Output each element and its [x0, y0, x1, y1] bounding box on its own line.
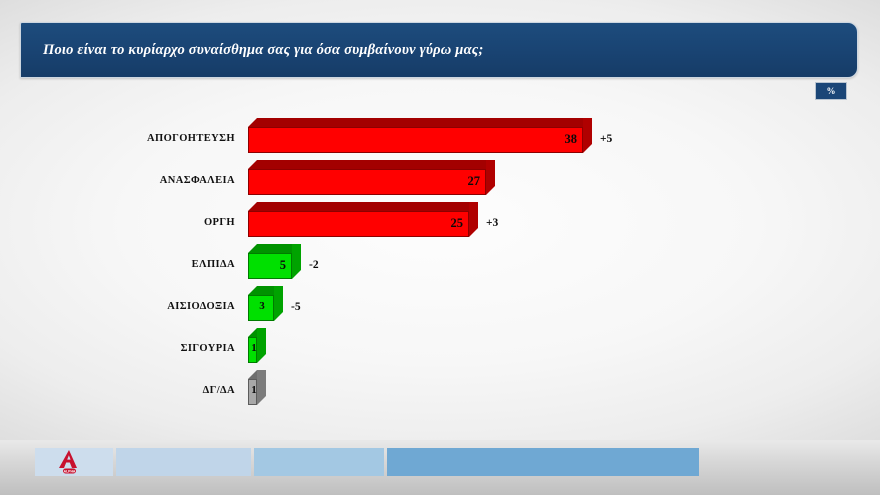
category-label: ΑΝΑΣΦΑΛΕΙΑ — [0, 175, 235, 186]
bar-side-face — [257, 328, 266, 363]
category-label: ΣΙΓΟΥΡΙΑ — [0, 343, 235, 354]
bar-delta-label: -2 — [309, 259, 319, 271]
bar-top-face — [248, 118, 592, 127]
page-title: Ποιο είναι το κυρίαρχο συναίσθημα σας γι… — [43, 23, 483, 77]
bar-green: 5 — [248, 244, 301, 279]
bar-side-face — [469, 202, 478, 237]
bar-value-label: 1 — [250, 342, 258, 354]
chart-row: ΕΛΠΙΔΑ5-2 — [0, 244, 880, 286]
chart-row: ΑΝΑΣΦΑΛΕΙΑ27 — [0, 160, 880, 202]
bar-gray: 1 — [248, 370, 266, 405]
bar-top-face — [248, 160, 495, 169]
bar-value-label: 3 — [250, 300, 274, 312]
alpha-logo-icon: ALPHA — [55, 449, 85, 475]
footer-bar: ALPHA ΣΕΔΕΑ alco The pulse of society — [0, 440, 880, 495]
svg-text:ALPHA: ALPHA — [64, 469, 76, 473]
bar-side-face — [583, 118, 592, 153]
category-label: ΔΓ/ΔΑ — [0, 385, 235, 396]
bar-front-face — [248, 169, 486, 195]
chart-row: ΟΡΓΗ25+3 — [0, 202, 880, 244]
bar-red: 25 — [248, 202, 478, 237]
chart-row: ΑΠΟΓΟΗΤΕΥΣΗ38+5 — [0, 118, 880, 160]
bar-value-label: 38 — [549, 132, 577, 147]
category-label: ΕΛΠΙΔΑ — [0, 259, 235, 270]
bar-chart: ΑΠΟΓΟΗΤΕΥΣΗ38+5ΑΝΑΣΦΑΛΕΙΑ27ΟΡΓΗ25+3ΕΛΠΙΔ… — [0, 108, 880, 418]
bar-delta-label: +5 — [600, 133, 612, 145]
bar-side-face — [486, 160, 495, 195]
category-label: ΑΠΟΓΟΗΤΕΥΣΗ — [0, 133, 235, 144]
bar-delta-label: -5 — [291, 301, 301, 313]
bar-side-face — [257, 370, 266, 405]
bar-value-label: 27 — [452, 174, 480, 189]
bar-red: 27 — [248, 160, 495, 195]
bar-top-face — [248, 202, 478, 211]
bar-green: 1 — [248, 328, 266, 363]
footer-block-4 — [387, 448, 699, 476]
percent-unit-badge: % — [815, 82, 847, 100]
bar-red: 38 — [248, 118, 592, 153]
bar-green: 3 — [248, 286, 283, 321]
category-label: ΟΡΓΗ — [0, 217, 235, 228]
footer-block-2 — [116, 448, 251, 476]
slide-canvas: Ποιο είναι το κυρίαρχο συναίσθημα σας γι… — [0, 0, 880, 495]
bar-value-label: 25 — [435, 216, 463, 231]
chart-row: ΣΙΓΟΥΡΙΑ1 — [0, 328, 880, 370]
bar-front-face — [248, 127, 583, 153]
bar-value-label: 5 — [258, 258, 286, 273]
bar-side-face — [274, 286, 283, 321]
bar-value-label: 1 — [250, 384, 258, 396]
chart-row: ΔΓ/ΔΑ1 — [0, 370, 880, 412]
chart-row: ΑΙΣΙΟΔΟΞΙΑ3-5 — [0, 286, 880, 328]
bar-delta-label: +3 — [486, 217, 498, 229]
category-label: ΑΙΣΙΟΔΟΞΙΑ — [0, 301, 235, 312]
footer-block-3 — [254, 448, 384, 476]
bar-side-face — [292, 244, 301, 279]
header-banner: Ποιο είναι το κυρίαρχο συναίσθημα σας γι… — [20, 22, 858, 78]
